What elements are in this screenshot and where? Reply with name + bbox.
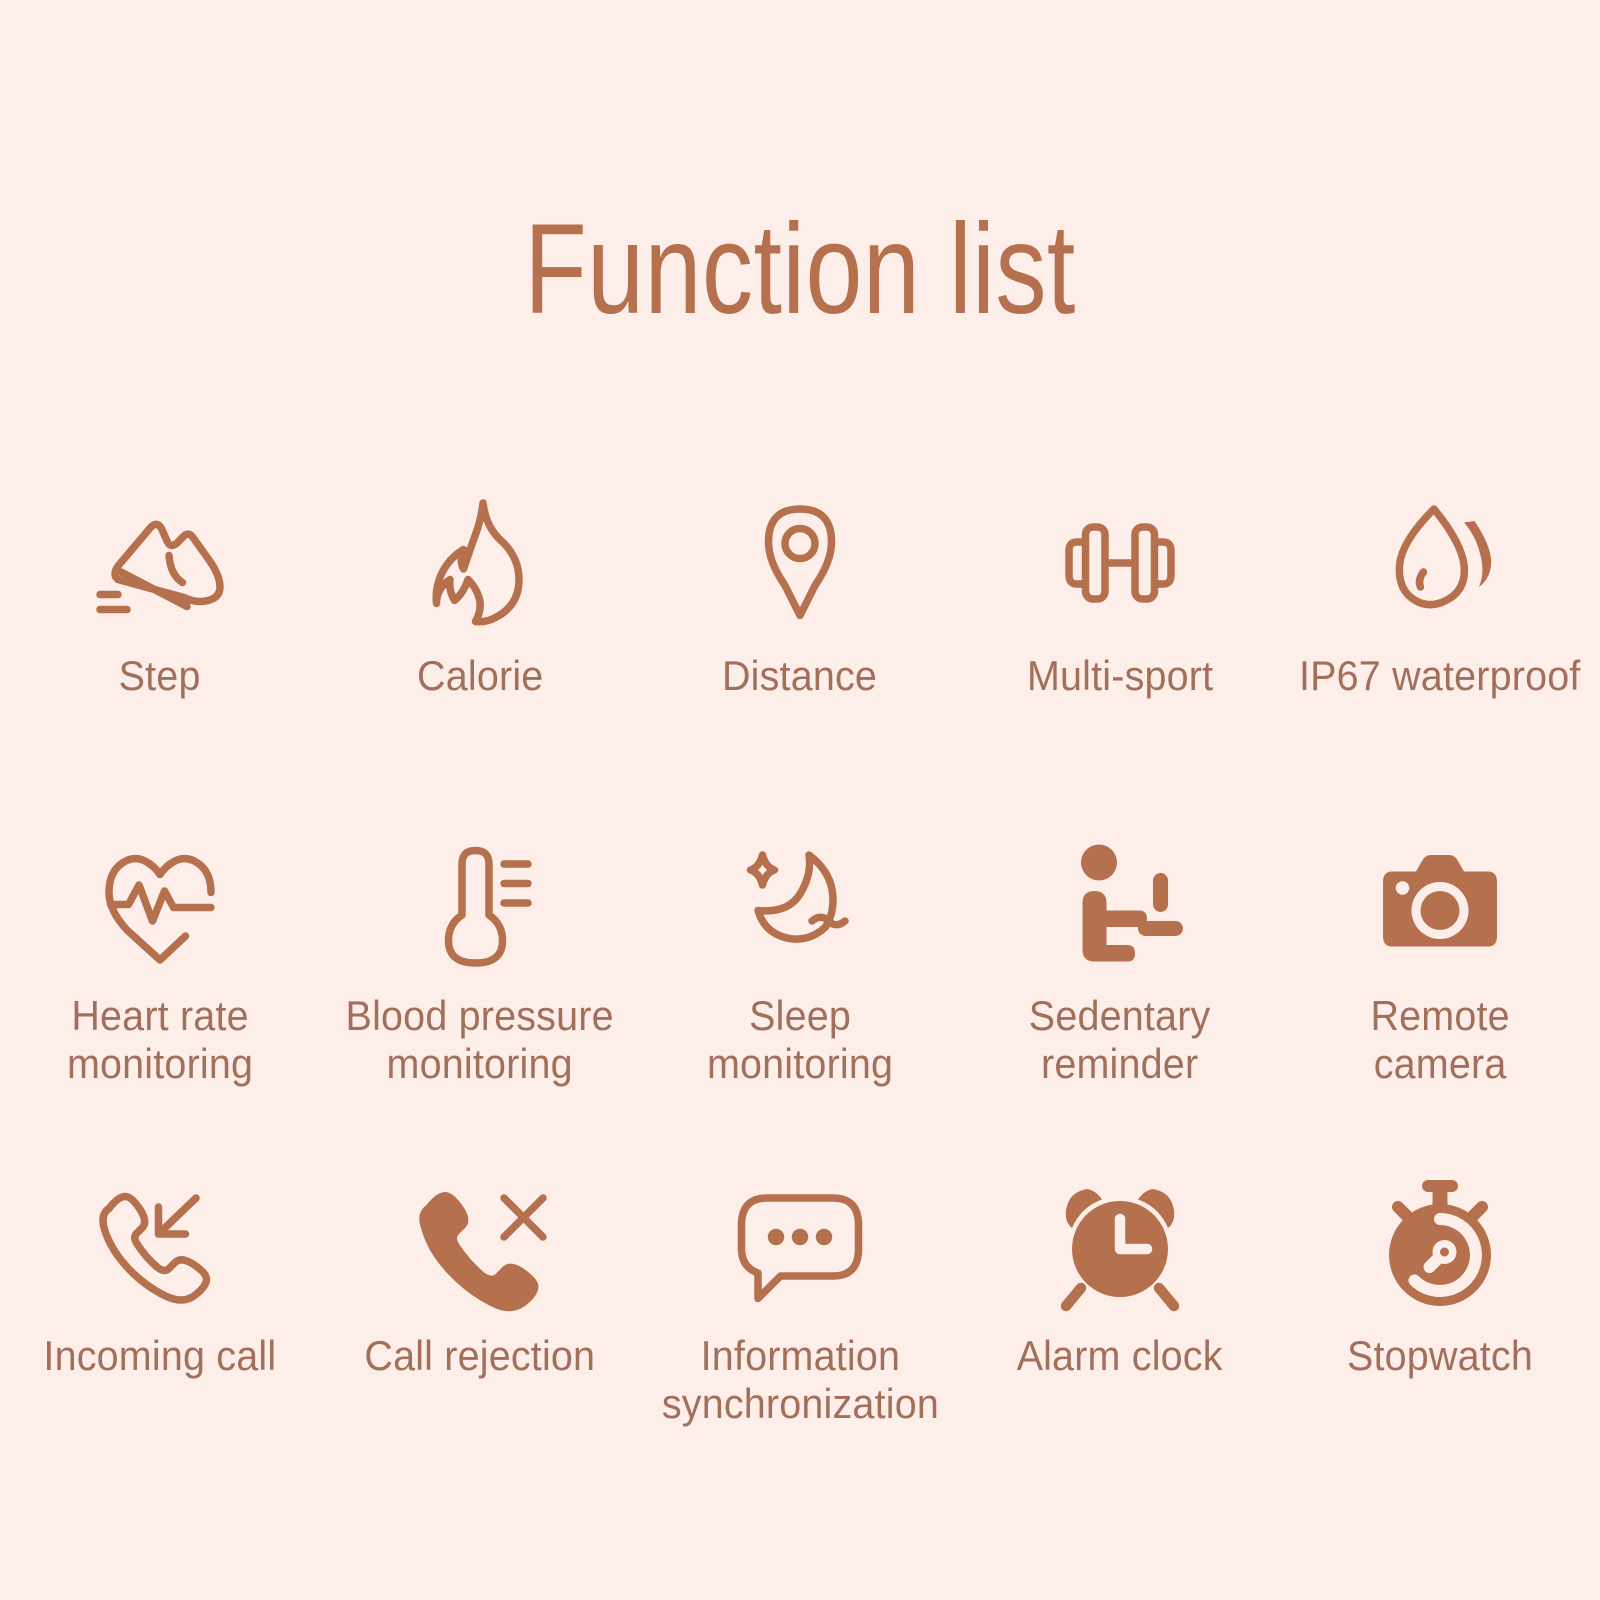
- stopwatch-icon: [1365, 1168, 1515, 1318]
- function-item-calorie[interactable]: Calorie: [320, 470, 640, 810]
- function-item-label: Incoming call: [44, 1332, 277, 1380]
- phone-incoming-icon: [85, 1168, 235, 1318]
- function-item-step[interactable]: Step: [0, 470, 320, 810]
- function-item-label: IP67 waterproof: [1299, 652, 1581, 700]
- function-item-call-rejection[interactable]: Call rejection: [320, 1150, 640, 1490]
- function-item-remote-camera[interactable]: Remote camera: [1280, 810, 1600, 1150]
- phone-reject-icon: [405, 1168, 555, 1318]
- function-item-stopwatch[interactable]: Stopwatch: [1280, 1150, 1600, 1490]
- function-item-multi-sport[interactable]: Multi-sport: [960, 470, 1280, 810]
- function-item-label: Stopwatch: [1347, 1332, 1533, 1380]
- function-item-label: Distance: [722, 652, 877, 700]
- function-item-label: Step: [119, 652, 201, 700]
- function-item-blood-pressure[interactable]: Blood pressure monitoring: [320, 810, 640, 1150]
- location-pin-icon: [725, 488, 875, 638]
- running-shoe-icon: [85, 488, 235, 638]
- alarm-clock-icon: [1045, 1168, 1195, 1318]
- function-grid: Step Calorie Distance: [0, 470, 1600, 1490]
- function-item-information-sync[interactable]: Information synchronization: [640, 1150, 960, 1490]
- function-item-label: Calorie: [417, 652, 543, 700]
- flame-icon: [405, 488, 555, 638]
- function-item-label: Alarm clock: [1017, 1332, 1223, 1380]
- water-drop-icon: [1365, 488, 1515, 638]
- function-item-heart-rate[interactable]: Heart rate monitoring: [0, 810, 320, 1150]
- function-item-label: Multi-sport: [1027, 652, 1213, 700]
- function-item-waterproof[interactable]: IP67 waterproof: [1280, 470, 1600, 810]
- function-item-label: Remote camera: [1370, 992, 1509, 1089]
- dumbbell-icon: [1045, 488, 1195, 638]
- function-item-label: Sedentary reminder: [1029, 992, 1211, 1089]
- function-item-alarm-clock[interactable]: Alarm clock: [960, 1150, 1280, 1490]
- function-item-sleep[interactable]: Sleep monitoring: [640, 810, 960, 1150]
- chat-bubble-dots-icon: [725, 1168, 875, 1318]
- thermometer-icon: [405, 828, 555, 978]
- function-list-page: Function list Step Calorie: [0, 0, 1600, 1600]
- function-item-label: Blood pressure monitoring: [346, 992, 614, 1089]
- page-title: Function list: [160, 206, 1440, 334]
- moon-star-icon: [725, 828, 875, 978]
- function-item-label: Sleep monitoring: [707, 992, 893, 1089]
- function-item-incoming-call[interactable]: Incoming call: [0, 1150, 320, 1490]
- function-item-label: Information synchronization: [661, 1332, 938, 1429]
- heart-pulse-icon: [85, 828, 235, 978]
- seated-person-desk-icon: [1045, 828, 1195, 978]
- function-item-label: Call rejection: [365, 1332, 596, 1380]
- function-item-sedentary[interactable]: Sedentary reminder: [960, 810, 1280, 1150]
- function-item-label: Heart rate monitoring: [67, 992, 253, 1089]
- camera-icon: [1365, 828, 1515, 978]
- function-item-distance[interactable]: Distance: [640, 470, 960, 810]
